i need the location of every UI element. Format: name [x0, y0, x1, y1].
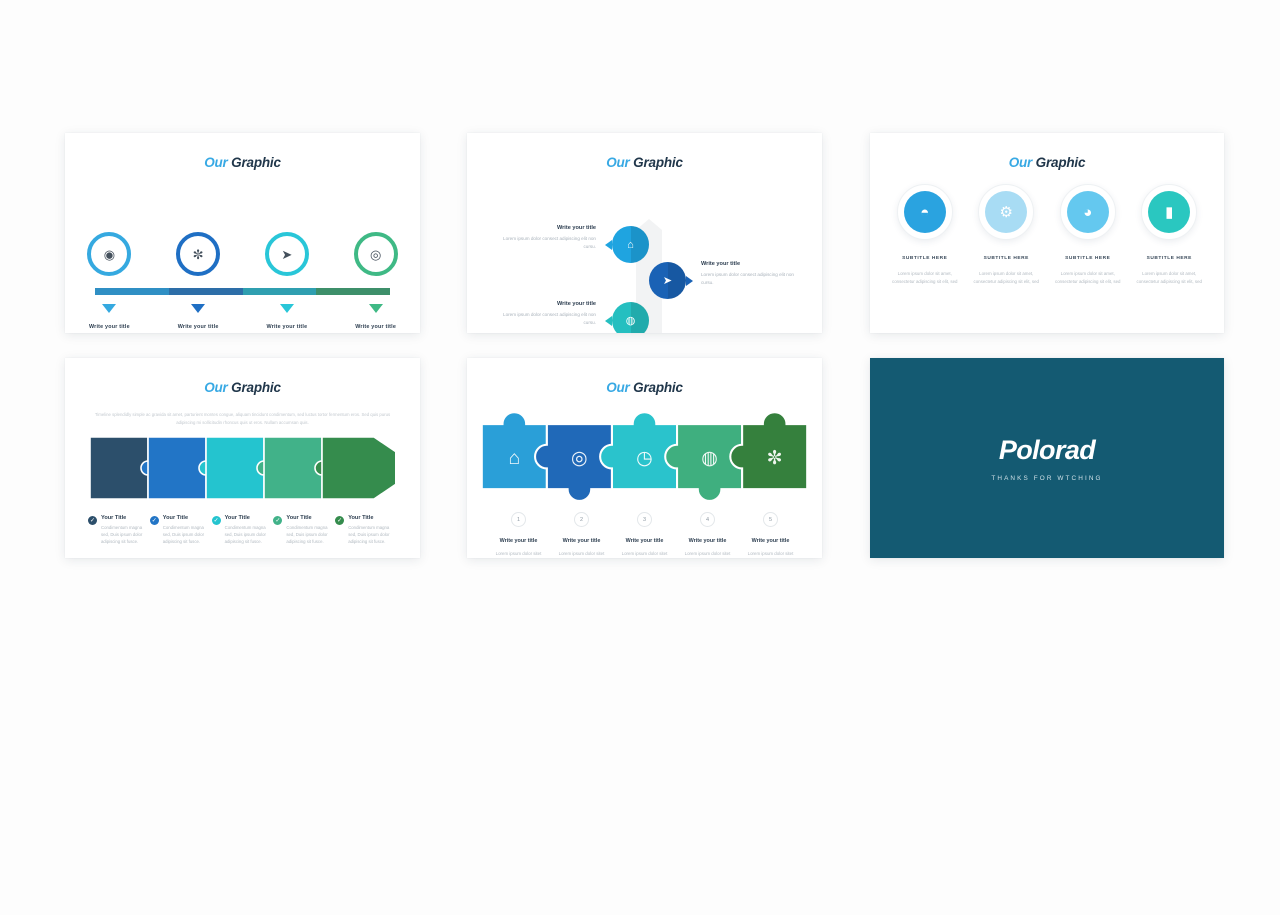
step-title: Write your title: [626, 538, 664, 544]
slide-puzzle-row[interactable]: Our Graphic ⌂◎◷◍✼ 1Write your titleLorem…: [467, 358, 822, 558]
step-body: Lorem ipsum dolor sitet consectetur adip…: [676, 550, 739, 558]
bulb-node[interactable]: ◍: [612, 302, 649, 333]
timeline-marker-slot: [154, 304, 243, 313]
legend-title: Your Title: [225, 515, 268, 521]
timeline-rings: ◉✼➤◎: [65, 232, 420, 276]
step-number: 5: [763, 512, 778, 527]
timeline-node[interactable]: ◎: [331, 232, 420, 276]
legend-title: Your Title: [163, 515, 206, 521]
legend-item[interactable]: ✓Your TitleCondimentum magna sed, Duis i…: [335, 515, 397, 546]
step-item[interactable]: 5Write your titleLorem ipsum dolor sitet…: [739, 512, 802, 558]
legend-body: Condimentum magna sed, Duis ipsum dolor …: [348, 524, 391, 546]
step-body: Lorem ipsum dolor sitet consectetur adip…: [487, 550, 550, 558]
step-number: 2: [574, 512, 589, 527]
timeline-marker-slot: [331, 304, 420, 313]
timeline-bar-segment: [316, 288, 390, 295]
target-ring[interactable]: ◉: [87, 232, 131, 276]
slide-title: Our Graphic: [467, 155, 822, 170]
title-word-graphic: Graphic: [633, 155, 683, 170]
bulb-icon: ◍: [701, 448, 718, 469]
timeline-caption: Write your titleLorem ipsum dolor amet c…: [243, 324, 332, 333]
circle-card-subtitle: SUBTITLE HERE: [984, 256, 1029, 261]
plane-node[interactable]: ➤: [649, 262, 686, 299]
slide-ring-timeline[interactable]: Our Graphic ◉✼➤◎ Write your titleLorem i…: [65, 133, 420, 333]
node-pointer-icon: [605, 240, 612, 250]
thanks-text: THANKS FOR WTCHING: [991, 475, 1102, 482]
money-bag-icon: ◓: [904, 191, 946, 233]
caption-title: Write your title: [500, 225, 596, 231]
title-word-our: Our: [204, 155, 227, 170]
legend-text: Your TitleCondimentum magna sed, Duis ip…: [348, 515, 391, 546]
slide-title: Our Graphic: [467, 380, 822, 395]
timeline-markers: [65, 304, 420, 313]
caption-title: Write your title: [249, 324, 326, 330]
circle-card-ring: ◓: [897, 184, 953, 240]
target-icon: ◎: [571, 448, 588, 469]
spine-caption: Write your titleLorem ipsum dolor consec…: [500, 225, 596, 251]
legend-body: Condimentum magna sed, Duis ipsum dolor …: [286, 524, 329, 546]
legend-item[interactable]: ✓Your TitleCondimentum magna sed, Duis i…: [212, 515, 274, 546]
clock-icon: ◷: [636, 448, 653, 469]
caption-title: Write your title: [337, 324, 414, 330]
step-number: 4: [700, 512, 715, 527]
circle-card[interactable]: ▮SUBTITLE HERELorem ipsum dolor sit amet…: [1129, 184, 1211, 285]
legend-body: Condimentum magna sed, Duis ipsum dolor …: [101, 524, 144, 546]
step-body: Lorem ipsum dolor sitet consectetur adip…: [739, 550, 802, 558]
step-title: Write your title: [689, 538, 727, 544]
gear-icon: ✼: [767, 448, 783, 469]
circle-card-body: Lorem ipsum dolor sit amet, consectetur …: [966, 270, 1048, 285]
legend-text: Your TitleCondimentum magna sed, Duis ip…: [163, 515, 206, 546]
timeline-caption: Write your titleLorem ipsum dolor amet c…: [331, 324, 420, 333]
gear-ring[interactable]: ✼: [176, 232, 220, 276]
step-body: Lorem ipsum dolor sitet consectetur adip…: [613, 550, 676, 558]
title-word-graphic: Graphic: [1036, 155, 1086, 170]
triangle-marker-icon: [102, 304, 116, 313]
timeline-node[interactable]: ◉: [65, 232, 154, 276]
caption-title: Write your title: [71, 324, 148, 330]
timeline-bar-segment: [169, 288, 243, 295]
lead-paragraph: Timeline splendidly simple ac gravida si…: [65, 411, 420, 427]
title-word-graphic: Graphic: [633, 380, 683, 395]
title-word-our: Our: [606, 380, 629, 395]
step-title: Write your title: [752, 538, 790, 544]
timeline-bar-segment: [95, 288, 169, 295]
step-item[interactable]: 3Write your titleLorem ipsum dolor sitet…: [613, 512, 676, 558]
step-item[interactable]: 2Write your titleLorem ipsum dolor sitet…: [550, 512, 613, 558]
step-item[interactable]: 1Write your titleLorem ipsum dolor sitet…: [487, 512, 550, 558]
paper-plane-icon: ➤: [281, 248, 292, 261]
title-word-our: Our: [606, 155, 629, 170]
step-number: 3: [637, 512, 652, 527]
end-card-content: Polorad THANKS FOR WTCHING: [870, 358, 1224, 558]
triangle-marker-icon: [280, 304, 294, 313]
circle-card[interactable]: ⚙SUBTITLE HERELorem ipsum dolor sit amet…: [966, 184, 1048, 285]
legend-title: Your Title: [101, 515, 144, 521]
timeline-stage: ◉✼➤◎ Write your titleLorem ipsum dolor a…: [65, 182, 420, 322]
puzzle-arrow-legend: ✓Your TitleCondimentum magna sed, Duis i…: [65, 515, 420, 546]
media-play-icon: ◕: [1067, 191, 1109, 233]
slide-title: Our Graphic: [65, 380, 420, 395]
home-icon: ⌂: [509, 448, 521, 469]
plane-icon: ➤: [663, 274, 672, 287]
circle-card[interactable]: ◕SUBTITLE HERELorem ipsum dolor sit amet…: [1047, 184, 1129, 285]
legend-item[interactable]: ✓Your TitleCondimentum magna sed, Duis i…: [150, 515, 212, 546]
slide-end-card[interactable]: Polorad THANKS FOR WTCHING: [870, 358, 1224, 558]
circle-card-subtitle: SUBTITLE HERE: [1065, 256, 1110, 261]
circle-card-ring: ◕: [1060, 184, 1116, 240]
brand-name: Polorad: [999, 435, 1095, 466]
legend-body: Condimentum magna sed, Duis ipsum dolor …: [225, 524, 268, 546]
triangle-marker-icon: [191, 304, 205, 313]
timeline-node[interactable]: ✼: [154, 232, 243, 276]
timeline-bar: [95, 288, 390, 295]
title-word-graphic: Graphic: [231, 380, 281, 395]
caption-title: Write your title: [160, 324, 237, 330]
puzzle-arrow-graphic: [65, 437, 420, 504]
legend-text: Your TitleCondimentum magna sed, Duis ip…: [101, 515, 144, 546]
timeline-node[interactable]: ➤: [243, 232, 332, 276]
circle-cards: ◓SUBTITLE HERELorem ipsum dolor sit amet…: [870, 184, 1224, 285]
puzzle-row-steps: 1Write your titleLorem ipsum dolor sitet…: [467, 512, 822, 558]
timeline-bar-segment: [243, 288, 317, 295]
spine-caption: Write your titleLorem ipsum dolor consec…: [701, 261, 797, 287]
title-word-our: Our: [204, 380, 227, 395]
step-number: 1: [511, 512, 526, 527]
timeline-captions: Write your titleLorem ipsum dolor amet c…: [65, 324, 420, 333]
circle-card-body: Lorem ipsum dolor sit amet, consectetur …: [1129, 270, 1211, 285]
circle-card-ring: ▮: [1141, 184, 1197, 240]
legend-title: Your Title: [348, 515, 391, 521]
slide-title: Our Graphic: [65, 155, 420, 170]
legend-body: Condimentum magna sed, Duis ipsum dolor …: [163, 524, 206, 546]
circle-card-body: Lorem ipsum dolor sit amet, consectetur …: [1047, 270, 1129, 285]
home-node[interactable]: ⌂: [612, 226, 649, 263]
slides-board: Our Graphic ◉✼➤◎ Write your titleLorem i…: [0, 0, 1280, 915]
step-body: Lorem ipsum dolor sitet consectetur adip…: [550, 550, 613, 558]
check-circle-icon: ✓: [212, 516, 221, 525]
caption-body: Lorem ipsum dolor consect adipiscing eli…: [500, 311, 596, 327]
spine-caption: Write your titleLorem ipsum dolor consec…: [500, 301, 596, 327]
lifebuoy-ring[interactable]: ◎: [354, 232, 398, 276]
caption-title: Write your title: [701, 261, 797, 267]
check-circle-icon: ✓: [150, 516, 159, 525]
circle-card-subtitle: SUBTITLE HERE: [1147, 256, 1192, 261]
timeline-caption: Write your titleLorem ipsum dolor amet c…: [65, 324, 154, 333]
legend-item[interactable]: ✓Your TitleCondimentum magna sed, Duis i…: [273, 515, 335, 546]
title-word-graphic: Graphic: [231, 155, 281, 170]
circle-card-body: Lorem ipsum dolor sit amet, consectetur …: [884, 270, 966, 285]
circle-card-ring: ⚙: [978, 184, 1034, 240]
puzzle-row-graphic: ⌂◎◷◍✼: [467, 407, 822, 506]
step-item[interactable]: 4Write your titleLorem ipsum dolor sitet…: [676, 512, 739, 558]
slide-puzzle-arrow[interactable]: Our Graphic Timeline splendidly simple a…: [65, 358, 420, 558]
timeline-caption: Write your titleLorem ipsum dolor amet c…: [154, 324, 243, 333]
slide-vertical-spine[interactable]: Our Graphic ⌂Write your titleLorem ipsum…: [467, 133, 822, 333]
check-circle-icon: ✓: [273, 516, 282, 525]
caption-body: Lorem ipsum dolor consect adipiscing eli…: [701, 271, 797, 287]
node-pointer-icon: [686, 276, 693, 286]
legend-title: Your Title: [286, 515, 329, 521]
bulb-icon: ◍: [626, 314, 636, 327]
home-icon: ⌂: [627, 239, 634, 251]
circle-card-subtitle: SUBTITLE HERE: [902, 256, 947, 261]
lifebuoy-icon: ◎: [370, 248, 381, 261]
step-title: Write your title: [500, 538, 538, 544]
title-word-our: Our: [1009, 155, 1032, 170]
triangle-marker-icon: [369, 304, 383, 313]
timeline-marker-slot: [243, 304, 332, 313]
legend-text: Your TitleCondimentum magna sed, Duis ip…: [225, 515, 268, 546]
puzzle-arrow-svg: [90, 437, 395, 499]
puzzle-row-svg: ⌂◎◷◍✼: [467, 407, 822, 506]
gear-icon: ✼: [193, 248, 204, 261]
check-circle-icon: ✓: [88, 516, 97, 525]
legend-item[interactable]: ✓Your TitleCondimentum magna sed, Duis i…: [88, 515, 150, 546]
puzzle-arrow-piece[interactable]: [315, 437, 395, 499]
bar-chart-icon: ▮: [1148, 191, 1190, 233]
target-icon: ◉: [104, 248, 115, 261]
legend-text: Your TitleCondimentum magna sed, Duis ip…: [286, 515, 329, 546]
spine-stage: ⌂Write your titleLorem ipsum dolor conse…: [467, 174, 822, 324]
gears-icon: ⚙: [985, 191, 1027, 233]
circle-card[interactable]: ◓SUBTITLE HERELorem ipsum dolor sit amet…: [884, 184, 966, 285]
slide-four-circles[interactable]: Our Graphic ◓SUBTITLE HERELorem ipsum do…: [870, 133, 1224, 333]
timeline-marker-slot: [65, 304, 154, 313]
caption-title: Write your title: [500, 301, 596, 307]
step-title: Write your title: [563, 538, 601, 544]
paper-plane-ring[interactable]: ➤: [265, 232, 309, 276]
caption-body: Lorem ipsum dolor consect adipiscing eli…: [500, 235, 596, 251]
check-circle-icon: ✓: [335, 516, 344, 525]
node-pointer-icon: [605, 316, 612, 326]
slide-title: Our Graphic: [870, 155, 1224, 170]
